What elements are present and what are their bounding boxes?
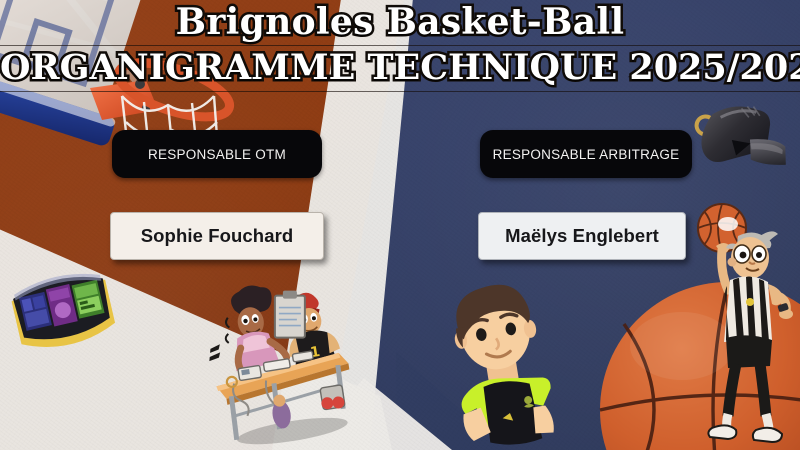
club-title: Brignoles Basket-Ball xyxy=(0,0,800,45)
page-subtitle-text: ORGANIGRAMME TECHNIQUE 2025/2026 xyxy=(0,47,800,88)
table-officials-cartoon-icon: 1 xyxy=(208,282,354,450)
title-banner: Brignoles Basket-Ball ORGANIGRAMME TECHN… xyxy=(0,0,800,92)
page-subtitle: ORGANIGRAMME TECHNIQUE 2025/2026 xyxy=(0,45,800,91)
role-box-arbitrage[interactable]: RESPONSABLE ARBITRAGE xyxy=(480,130,692,178)
banner-divider-bottom xyxy=(0,91,800,92)
club-title-text: Brignoles Basket-Ball xyxy=(176,1,625,43)
role-label-otm: RESPONSABLE OTM xyxy=(148,147,286,162)
role-box-otm[interactable]: RESPONSABLE OTM xyxy=(112,130,322,178)
name-box-arbitrage[interactable]: Maëlys Englebert xyxy=(478,212,686,260)
organigramme-slide: EM xyxy=(0,0,800,450)
person-name-arbitrage: Maëlys Englebert xyxy=(505,225,659,247)
boy-avatar-icon xyxy=(434,272,566,450)
cartoon-referee-icon xyxy=(694,192,798,450)
role-label-arbitrage: RESPONSABLE ARBITRAGE xyxy=(493,147,680,162)
name-box-otm[interactable]: Sophie Fouchard xyxy=(110,212,324,260)
referee-whistle-icon xyxy=(692,84,800,196)
scoreboard-icon xyxy=(12,272,116,358)
person-name-otm: Sophie Fouchard xyxy=(141,225,294,247)
